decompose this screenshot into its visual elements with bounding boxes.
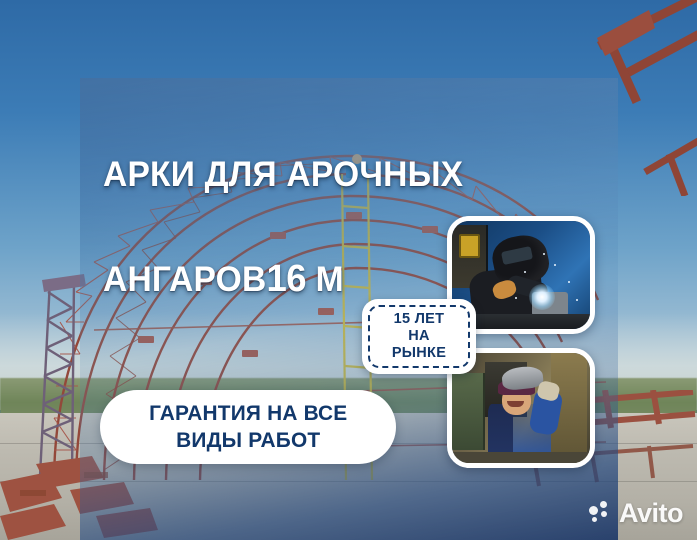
avito-dots-icon: [589, 501, 613, 525]
badge-label: 15 ЛЕТ НА РЫНКЕ: [392, 311, 446, 362]
guarantee-banner: ГАРАНТИЯ НА ВСЕ ВИДЫ РАБОТ: [100, 390, 396, 464]
worker-machine-left: [452, 373, 485, 450]
years-on-market-badge: 15 ЛЕТ НА РЫНКЕ: [362, 299, 476, 374]
avito-listing-image: АРКИ ДЛЯ АРОЧНЫХ АНГАРОВ16 М: [0, 0, 697, 540]
guarantee-label: ГАРАНТИЯ НА ВСЕ ВИДЫ РАБОТ: [149, 400, 347, 454]
badge-dashed-border: 15 ЛЕТ НА РЫНКЕ: [368, 305, 470, 368]
weld-spark: [529, 284, 555, 310]
spark-particle: [576, 299, 578, 301]
headline-line-1: АРКИ ДЛЯ АРОЧНЫХ: [103, 149, 516, 201]
avito-wordmark: Avito: [619, 500, 683, 527]
headline-unit: М: [316, 260, 344, 299]
headline-line-2-prefix: АНГАРОВ: [103, 260, 266, 299]
welder-control-box: [459, 234, 480, 258]
worker-floor: [452, 452, 590, 463]
spark-particle: [524, 271, 526, 273]
avito-watermark: Avito: [589, 498, 683, 528]
headline-number: 16: [266, 258, 306, 300]
